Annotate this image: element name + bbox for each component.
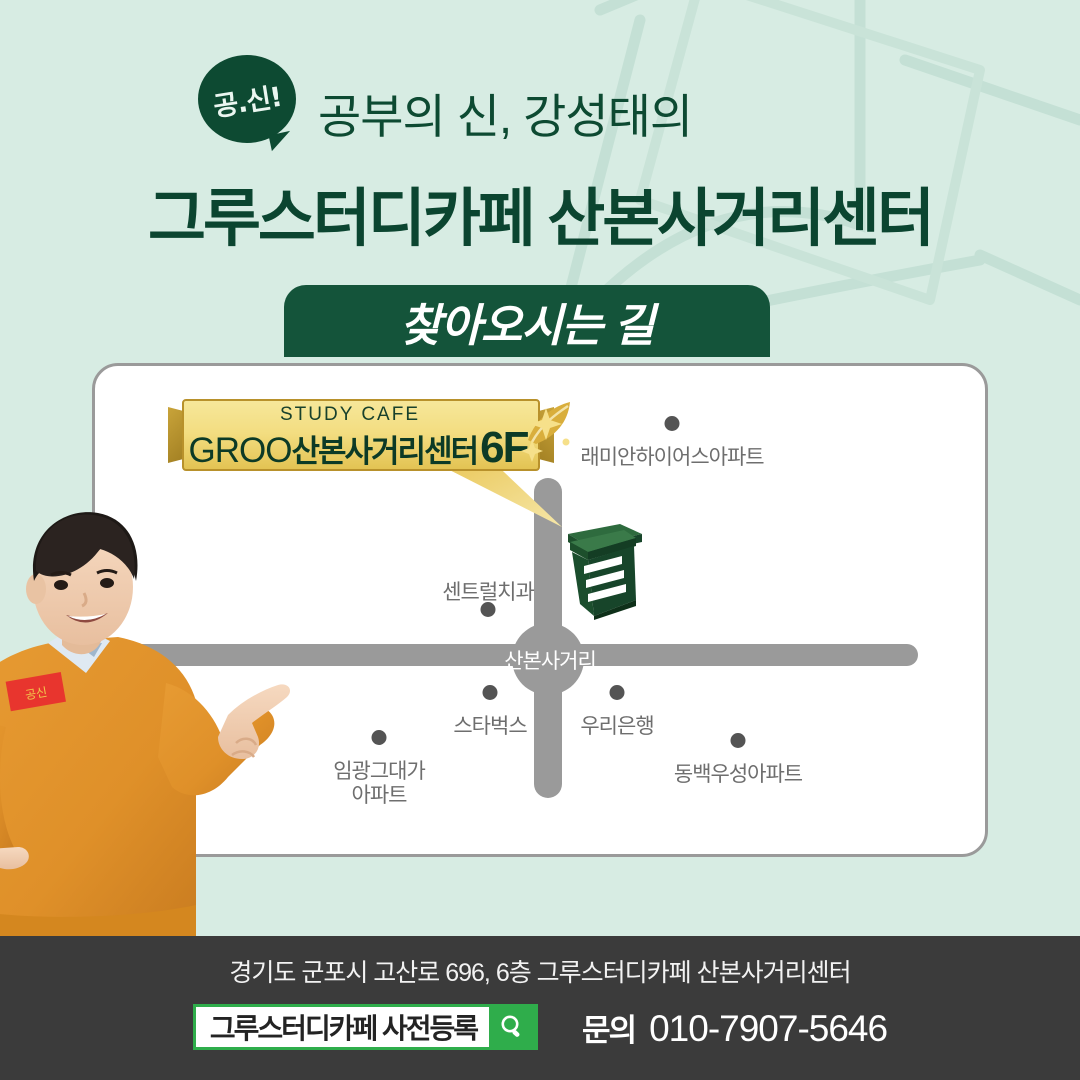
contact-block: 문의 010-7907-5646 [582,1005,887,1050]
poi-dot-icon [731,733,746,748]
ribbon-brand: GROO [189,431,292,471]
search-icon [498,1013,526,1041]
directions-banner-label: 찾아오시는 길 [400,289,654,354]
logo-badge-label: 공.신! [192,48,303,150]
phone-number[interactable]: 010-7907-5646 [649,1008,887,1050]
gongsin-logo-badge: 공.신! [198,55,296,143]
footer-actions: 그루스터디카페 사전등록 문의 010-7907-5646 [0,1004,1080,1050]
ribbon-main-line: GROO 산본사거리센터 6F [186,423,530,473]
poi-label: 센트럴치과 [442,581,534,605]
mascot-person-pointing: 공신 [0,505,320,937]
poi-dot-icon [372,730,387,745]
search-button[interactable] [489,1007,535,1047]
poi-dot-icon [483,685,498,700]
address-text: 경기도 군포시 고산로 696, 6층 그루스터디카페 산본사거리센터 [0,953,1080,989]
ribbon-center-name: 산본사거리센터 [291,426,477,471]
contact-label: 문의 [582,1005,635,1050]
poi-label: 임광그대가아파트 [333,760,425,807]
poi-dot-icon [665,416,680,431]
search-keyword: 그루스터디카페 사전등록 [196,1007,489,1047]
directions-banner: 찾아오시는 길 [284,285,770,357]
quill-sparkle-icon [512,398,584,476]
poi-label: 동백우성아파트 [674,763,802,787]
poi-label: 우리은행 [580,715,653,739]
poi-label: 스타벅스 [453,715,526,739]
poi-label: 래미안하이어스아파트 [580,446,763,470]
store-ribbon-label: STUDY CAFE GROO 산본사거리센터 6F [168,399,540,471]
header: 공.신! 공부의 신, 강성태의 그루스터디카페 산본사거리센터 찾아오시는 길 [0,0,1080,360]
header-subtitle: 공부의 신, 강성태의 [318,78,692,147]
store-building-icon [558,512,648,620]
intersection-label: 산본사거리 [470,645,630,675]
poi-dot-icon [610,685,625,700]
page-title: 그루스터디카페 산본사거리센터 [0,168,1080,259]
preregister-search-box[interactable]: 그루스터디카페 사전등록 [193,1004,538,1050]
footer-bar: 경기도 군포시 고산로 696, 6층 그루스터디카페 산본사거리센터 그루스터… [0,936,1080,1080]
